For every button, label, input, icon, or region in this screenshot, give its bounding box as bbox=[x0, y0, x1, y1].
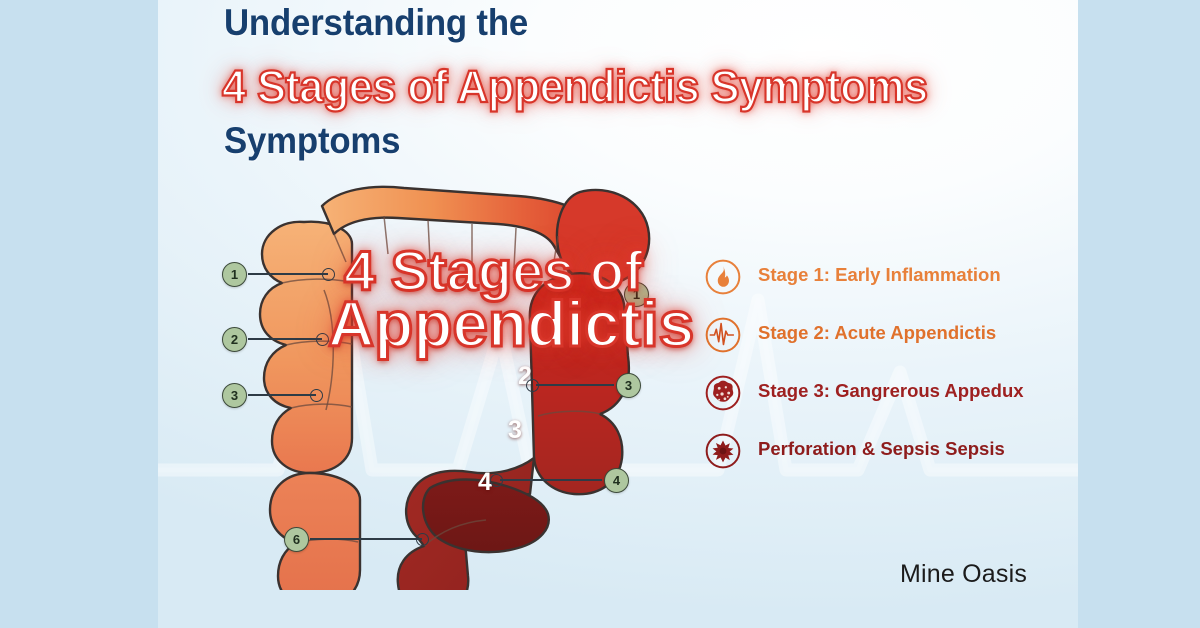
leader-dot-right-4 bbox=[490, 474, 503, 487]
callout-badge-left-6[interactable]: 6 bbox=[284, 527, 309, 552]
leader-dot-left-6 bbox=[416, 533, 429, 546]
legend-label-stage-2: Stage 2: Acute Appendictis bbox=[758, 316, 996, 345]
organ-number-3: 3 bbox=[508, 416, 522, 445]
leader-dot-left-2 bbox=[316, 333, 329, 346]
legend-item-stage-4[interactable]: Perforation & Sepsis Sepsis bbox=[704, 432, 1054, 470]
leader-dot-right-3 bbox=[526, 379, 539, 392]
stage-legend: Stage 1: Early Inflammation Stage 2: Acu… bbox=[704, 258, 1054, 490]
page-title-line3: Symptoms bbox=[224, 120, 400, 162]
legend-label-stage-1: Stage 1: Early Inflammation bbox=[758, 258, 1001, 287]
leader-dot-left-1 bbox=[322, 268, 335, 281]
pulse-icon bbox=[704, 316, 742, 354]
leader-line-left-2 bbox=[248, 338, 322, 340]
burst-icon bbox=[704, 432, 742, 470]
leader-dot-left-3 bbox=[310, 389, 323, 402]
leader-line-left-3 bbox=[248, 394, 316, 396]
legend-item-stage-3[interactable]: Stage 3: Gangrerous Appedux bbox=[704, 374, 1054, 412]
callout-badge-right-3[interactable]: 3 bbox=[616, 373, 641, 398]
callout-badge-left-3[interactable]: 3 bbox=[222, 383, 247, 408]
legend-label-stage-4: Perforation & Sepsis Sepsis bbox=[758, 432, 1005, 461]
legend-item-stage-2[interactable]: Stage 2: Acute Appendictis bbox=[704, 316, 1054, 354]
callout-badge-left-1[interactable]: 1 bbox=[222, 262, 247, 287]
content-panel: Understanding the 4 Stages of Appendicti… bbox=[158, 0, 1078, 628]
leader-line-right-3 bbox=[536, 384, 614, 386]
page-title-line1: Understanding the bbox=[224, 2, 528, 44]
infographic-canvas: Understanding the 4 Stages of Appendicti… bbox=[0, 0, 1200, 628]
callout-badge-right-1[interactable]: 1 bbox=[624, 282, 649, 307]
legend-label-stage-3: Stage 3: Gangrerous Appedux bbox=[758, 374, 1024, 403]
legend-item-stage-1[interactable]: Stage 1: Early Inflammation bbox=[704, 258, 1054, 296]
leader-line-left-1 bbox=[248, 273, 328, 275]
page-title-main: 4 Stages of Appendictis Symptoms bbox=[222, 61, 928, 113]
callout-badge-right-4[interactable]: 4 bbox=[604, 468, 629, 493]
flame-icon bbox=[704, 258, 742, 296]
callout-badge-left-2[interactable]: 2 bbox=[222, 327, 247, 352]
credit-watermark: Mine Oasis bbox=[900, 560, 1027, 589]
leader-line-right-4 bbox=[500, 479, 602, 481]
bacteria-icon bbox=[704, 374, 742, 412]
leader-line-left-6 bbox=[310, 538, 422, 540]
